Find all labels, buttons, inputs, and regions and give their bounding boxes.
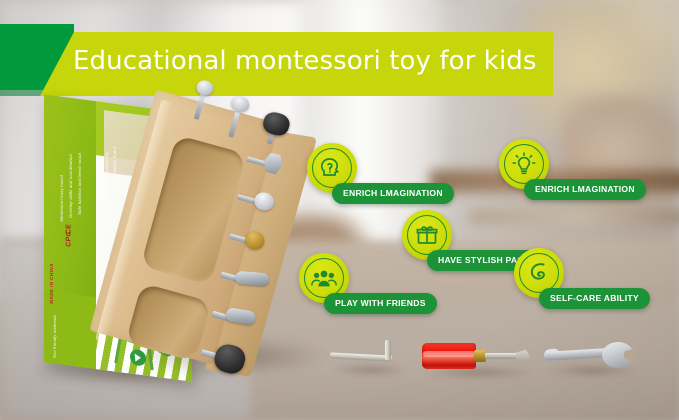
board-groove-small [125,283,211,362]
origin-label: MADE IN CHINA [49,263,54,304]
screwdriver-shaft [485,353,519,359]
page-title: Educational montessori toy for kids [73,46,573,76]
hand-care-icon [524,258,554,288]
allen-key-long-arm [330,352,392,361]
allen-key-tool [330,340,410,374]
allen-key-short-arm [385,340,391,360]
head-brain-icon [317,153,347,183]
gift-box-icon [412,220,442,250]
box-panel-text-line-1: Educational wooden toy [104,116,109,201]
screwdriver-tool [422,338,540,374]
people-group-icon [309,263,339,293]
box-side-text-line-2: Develop skills and coordination [68,119,73,218]
lightbulb-icon [509,149,539,179]
screwdriver-handle-highlight [423,351,475,357]
badge-label: PLAY WITH FRIENDS [324,293,437,314]
box-side-text-line-1: Montessori busy board [59,116,64,222]
cpc-mark-icon: CPC [66,231,73,248]
montessori-busy-board [110,100,325,390]
badge-label: ENRICH LMAGINATION [332,183,454,204]
badge-label: SELF-CARE ABILITY [539,288,650,309]
box-side-text-line-3: Safe bamboo and beech wood [77,123,82,216]
screwdriver-handle [422,343,476,369]
open-end-wrench-tool [544,340,638,370]
badge-label: ENRICH LMAGINATION [524,179,646,200]
product-marketing-banner: Educational montessori toy for kids Mont… [0,0,679,420]
certification-marks: CE CPC [54,224,84,290]
box-bottom-text: Eco friendly materials [52,301,57,358]
screwdriver-tip [516,350,530,362]
